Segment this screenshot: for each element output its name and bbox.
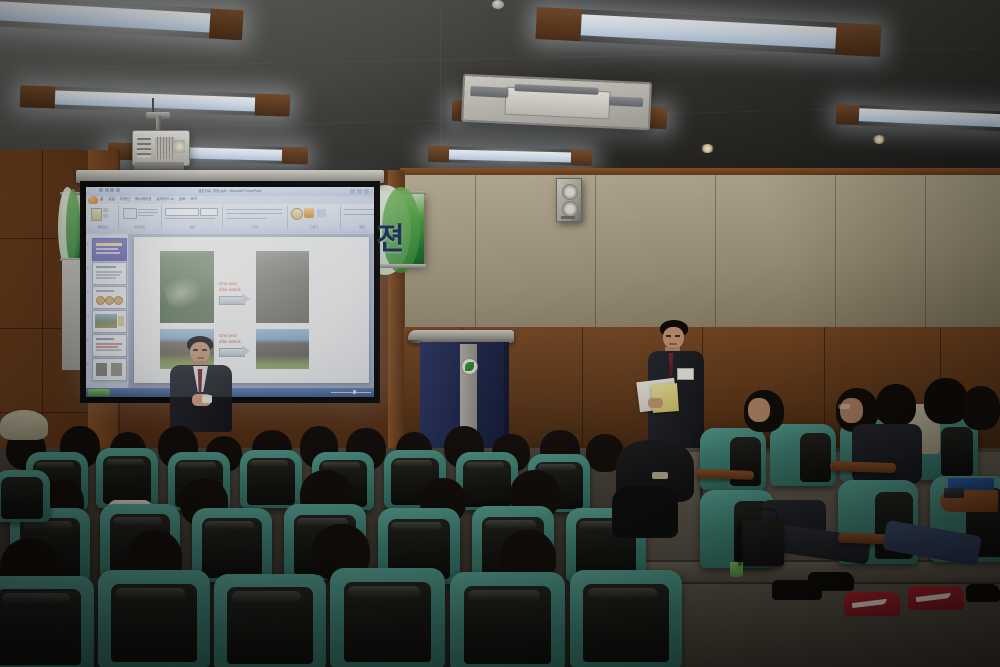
briefcase-handle: [748, 508, 778, 524]
tab-animations[interactable]: 애니메이션: [135, 197, 152, 202]
auditorium-seat-right: [770, 424, 836, 486]
slide-thumbnail[interactable]: [92, 262, 127, 285]
start-button[interactable]: [88, 389, 110, 396]
auditorium-seat: [330, 568, 445, 667]
powerpoint-title-text: 발표자료_최종.pptx - Microsoft PowerPoint: [199, 188, 262, 193]
audience-head: [876, 384, 916, 426]
ribbon-group-clipboard[interactable]: 클립보드: [88, 205, 119, 229]
slide-photo-bottom-right: [256, 329, 309, 369]
auditorium-seat: [0, 470, 50, 522]
attendee-eye: [675, 335, 680, 337]
auditorium-seat: [0, 576, 94, 667]
slide-thumbnail[interactable]: [92, 238, 127, 261]
ribbon-group-editing[interactable]: 편집: [341, 205, 374, 229]
banner-text: 젼: [377, 214, 405, 258]
audience-head: [962, 386, 1000, 430]
device-on-desk: [944, 488, 964, 498]
projector: [132, 130, 190, 166]
window-controls[interactable]: [350, 189, 372, 194]
name-badge: [677, 368, 694, 380]
briefcase: [738, 520, 784, 566]
slide-thumbnail[interactable]: [92, 358, 127, 381]
zoom-slider[interactable]: [331, 390, 371, 394]
tab-home[interactable]: 홈: [100, 197, 103, 202]
audience-face: [748, 398, 770, 422]
auditorium-seat: [214, 574, 326, 667]
attendee-hand: [648, 398, 663, 408]
slide-arrow-head-top: [242, 293, 250, 305]
ribbon-tabs[interactable]: 홈 삽입 디자인 애니메이션 슬라이드 쇼 검토 보기: [100, 197, 197, 202]
eyeglasses-icon: [838, 404, 850, 409]
audience-face: [840, 398, 863, 423]
auditorium-seat: [96, 448, 158, 508]
cap-logo-icon: [652, 472, 668, 479]
lectern-emblem-icon: [461, 358, 478, 375]
slide-number: 4: [87, 314, 89, 318]
red-sneaker: [844, 592, 900, 616]
auditorium-scene: 젼 발표자료_최종.pptx - Microsoft PowerPoint 홈: [0, 0, 1000, 667]
presenter-mouth: [197, 357, 204, 359]
tab-view[interactable]: 보기: [191, 197, 198, 202]
audience-head: [924, 378, 968, 424]
slide-thumbnail[interactable]: [92, 286, 127, 309]
tab-slideshow[interactable]: 슬라이드 쇼: [156, 197, 174, 202]
auditorium-seat-right: [700, 428, 766, 490]
recessed-downlight: [872, 135, 886, 144]
powerpoint-ribbon[interactable]: 클립보드 슬라이드 글꼴: [86, 204, 374, 235]
slide-number: 5: [87, 338, 89, 342]
slide-thumbnails-pane[interactable]: 1 2 3 4: [86, 234, 129, 388]
auditorium-seat: [450, 572, 565, 667]
tab-design[interactable]: 디자인: [120, 197, 130, 202]
red-sneaker: [908, 586, 964, 610]
ribbon-group-paragraph[interactable]: 단락: [223, 205, 288, 229]
ceiling-seam: [440, 8, 441, 168]
auditorium-seat: [570, 570, 682, 667]
slide-number: 3: [87, 290, 89, 294]
slide-number: 1: [87, 242, 89, 246]
slide-thumbnail[interactable]: [92, 310, 127, 333]
slide-number: 2: [87, 266, 89, 270]
tab-insert[interactable]: 삽입: [108, 197, 115, 202]
ribbon-group-drawing[interactable]: 그리기: [288, 205, 341, 229]
presenter-face: [190, 342, 210, 363]
slide-editing-stage[interactable]: One year after attack One year after att…: [129, 234, 374, 388]
slide-photo-top-right: [256, 251, 309, 323]
powerpoint-title-bar: 발표자료_최종.pptx - Microsoft PowerPoint: [86, 187, 374, 196]
tab-review[interactable]: 검토: [179, 197, 186, 202]
attendee-mouth: [669, 343, 677, 345]
slide-number: 6: [87, 362, 89, 366]
slide-photo-top-left: [160, 251, 214, 323]
dress-shoe: [808, 572, 854, 591]
presenter-eye: [193, 349, 198, 351]
slide-annotation-line1: One year: [219, 281, 237, 286]
ceiling-air-conditioner: [461, 74, 652, 131]
wall-speaker: [556, 178, 582, 222]
quick-access-toolbar[interactable]: [99, 188, 120, 192]
audience-cap: [0, 410, 48, 440]
ribbon-group-font[interactable]: 글꼴: [162, 205, 223, 229]
slide-arrow-head-bottom: [242, 345, 250, 357]
briefcase-edge: [738, 520, 742, 566]
ribbon-group-slides[interactable]: 슬라이드: [119, 205, 162, 229]
auditorium-seat: [98, 570, 210, 667]
attendee-eye: [666, 335, 671, 337]
dress-shoe: [966, 584, 1000, 602]
presenter-eye: [202, 349, 207, 351]
attendee-face: [663, 327, 684, 349]
acoustic-wall-panel: [405, 175, 1000, 327]
recessed-downlight: [700, 144, 715, 153]
banner-left: [62, 195, 82, 260]
slide-thumbnail[interactable]: [92, 334, 127, 357]
audience-torso: [852, 424, 922, 484]
audience-hair: [612, 486, 678, 538]
auditorium-seat: [240, 450, 302, 508]
presentation-remote: [202, 395, 212, 403]
slide-annotation-line2: after attack: [219, 287, 241, 292]
smoke-detector-icon: [492, 0, 504, 9]
